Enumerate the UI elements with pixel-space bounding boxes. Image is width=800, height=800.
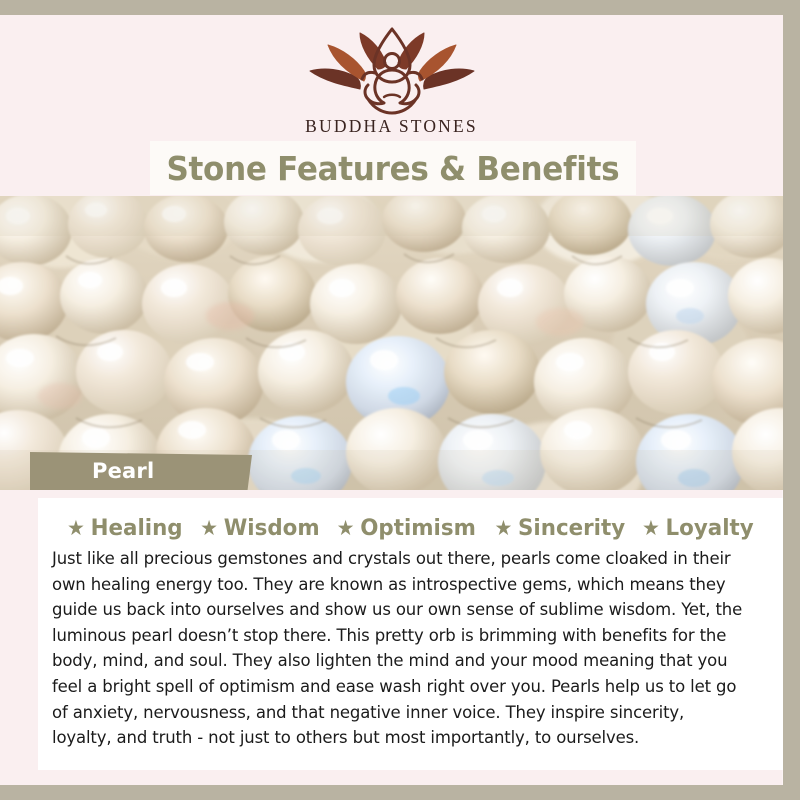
star-icon: ★ xyxy=(494,518,512,539)
keyword-optimism: ★ Optimism xyxy=(337,515,476,541)
page-title: Stone Features & Benefits xyxy=(167,149,620,188)
description-paragraph: Just like all precious gemstones and cry… xyxy=(52,547,744,752)
content-panel: ★ Healing ★ Wisdom ★ Optimism ★ Sincerit… xyxy=(38,498,783,770)
pearl-photo-graphic xyxy=(0,196,783,490)
star-icon: ★ xyxy=(642,518,660,539)
keyword-label: Optimism xyxy=(361,515,477,541)
infographic-page: BUDDHA STONES Stone Features & Benefits xyxy=(0,0,800,800)
keyword-wisdom: ★ Wisdom xyxy=(200,515,319,541)
brand-name: BUDDHA STONES xyxy=(305,116,478,137)
keyword-label: Healing xyxy=(91,515,183,541)
lotus-meditation-icon xyxy=(302,27,482,115)
brand-logo: BUDDHA STONES xyxy=(0,15,783,155)
star-icon: ★ xyxy=(67,518,85,539)
keyword-healing: ★ Healing xyxy=(67,515,183,541)
keyword-sincerity: ★ Sincerity xyxy=(494,515,625,541)
stone-name-band: Pearl xyxy=(30,452,252,490)
keyword-label: Wisdom xyxy=(223,515,319,541)
star-icon: ★ xyxy=(337,518,355,539)
title-band: Stone Features & Benefits xyxy=(150,141,636,195)
keyword-label: Sincerity xyxy=(518,515,625,541)
keyword-loyalty: ★ Loyalty xyxy=(642,515,754,541)
keyword-list: ★ Healing ★ Wisdom ★ Optimism ★ Sincerit… xyxy=(52,512,769,544)
stone-name: Pearl xyxy=(30,459,154,483)
keyword-label: Loyalty xyxy=(666,515,754,541)
star-icon: ★ xyxy=(200,518,218,539)
pearl-photo xyxy=(0,196,783,490)
